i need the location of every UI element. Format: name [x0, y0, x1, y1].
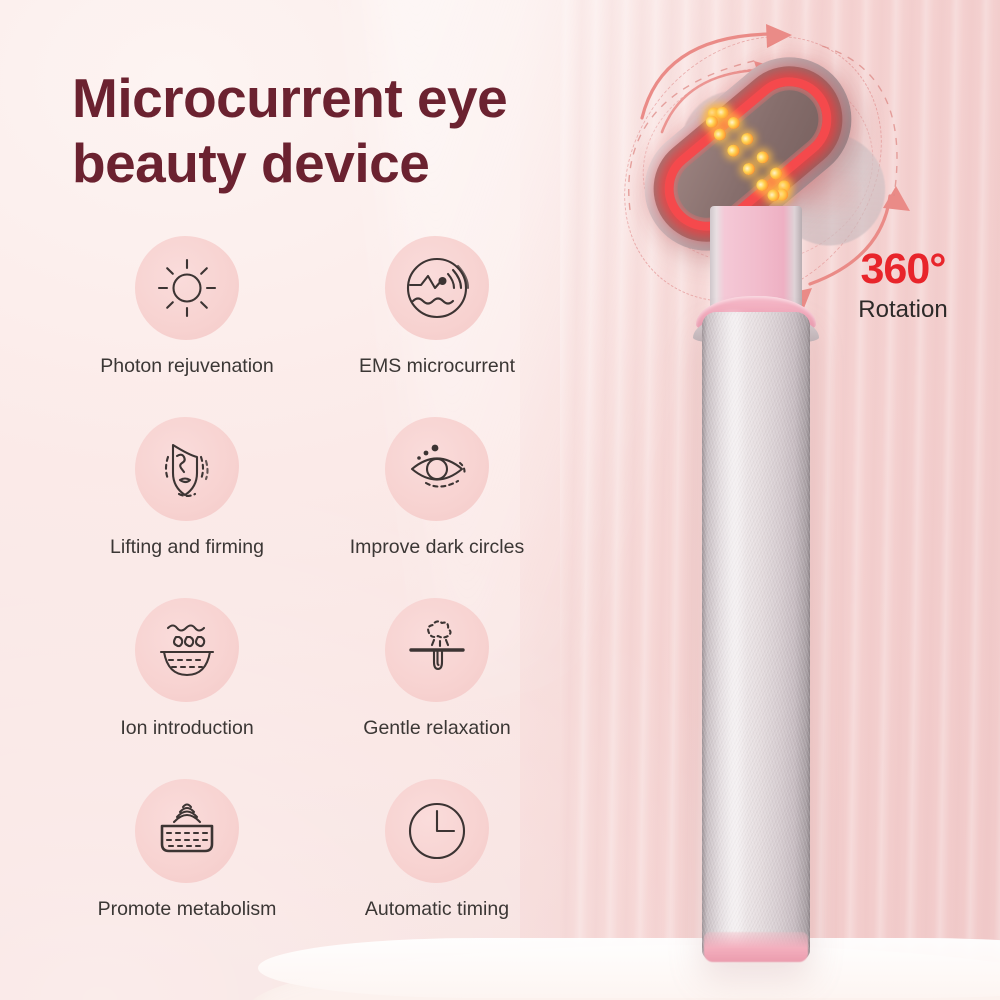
- feature-icon-badge: [385, 598, 489, 702]
- feature-icon-badge: [385, 417, 489, 521]
- rotation-callout: 360° Rotation: [838, 248, 968, 324]
- skin-layers-waves-icon: [154, 800, 220, 862]
- feature-item-photon-rejuvenation[interactable]: Photon rejuvenation: [62, 236, 312, 417]
- feature-label: EMS microcurrent: [359, 355, 515, 378]
- feature-label: Gentle relaxation: [363, 717, 510, 740]
- feature-item-gentle-relaxation[interactable]: Gentle relaxation: [312, 598, 562, 779]
- feature-label: Automatic timing: [365, 898, 509, 921]
- feature-icon-badge: [135, 236, 239, 340]
- feature-icon-badge: [135, 417, 239, 521]
- feature-row: Photon rejuvenation: [62, 236, 562, 417]
- feature-label: Lifting and firming: [110, 536, 264, 559]
- water-droplet-bowl-icon: [154, 620, 220, 680]
- feature-row: Lifting and firming: [62, 417, 562, 598]
- pore-steam-icon: [404, 619, 470, 681]
- feature-item-improve-dark-circles[interactable]: Improve dark circles: [312, 417, 562, 598]
- feature-icon-badge: [135, 779, 239, 883]
- handle-sheen: [719, 312, 747, 960]
- sun-icon: [156, 257, 218, 319]
- rotation-label: Rotation: [838, 296, 968, 324]
- eye-icon: [404, 441, 470, 497]
- feature-item-automatic-timing[interactable]: Automatic timing: [312, 779, 562, 960]
- feature-label: Improve dark circles: [350, 536, 524, 559]
- feature-label: Ion introduction: [120, 717, 253, 740]
- rotation-degrees: 360°: [838, 248, 968, 291]
- face-profile-icon: [155, 437, 219, 501]
- feature-item-lifting-and-firming[interactable]: Lifting and firming: [62, 417, 312, 598]
- feature-item-ems-microcurrent[interactable]: EMS microcurrent: [312, 236, 562, 417]
- feature-row: Promote metabolism Automatic timing: [62, 779, 562, 960]
- feature-item-ion-introduction[interactable]: Ion introduction: [62, 598, 312, 779]
- feature-label: Photon rejuvenation: [100, 355, 273, 378]
- device-handle-base: [704, 932, 808, 962]
- product-poster: Microcurrent eyebeauty device: [0, 0, 1000, 1000]
- feature-icon-badge: [385, 236, 489, 340]
- handle-texture: [702, 312, 810, 960]
- page-title: Microcurrent eyebeauty device: [72, 66, 632, 196]
- device-handle: [702, 312, 810, 960]
- ems-waveform-icon: [404, 255, 470, 321]
- product-device-illustration: 360° Rotation: [590, 0, 1000, 1000]
- feature-icon-badge: [135, 598, 239, 702]
- clock-icon: [405, 799, 469, 863]
- feature-row: Ion introduction: [62, 598, 562, 779]
- feature-item-promote-metabolism[interactable]: Promote metabolism: [62, 779, 312, 960]
- feature-icon-badge: [385, 779, 489, 883]
- feature-grid: Photon rejuvenation: [62, 236, 562, 960]
- feature-label: Promote metabolism: [98, 898, 277, 921]
